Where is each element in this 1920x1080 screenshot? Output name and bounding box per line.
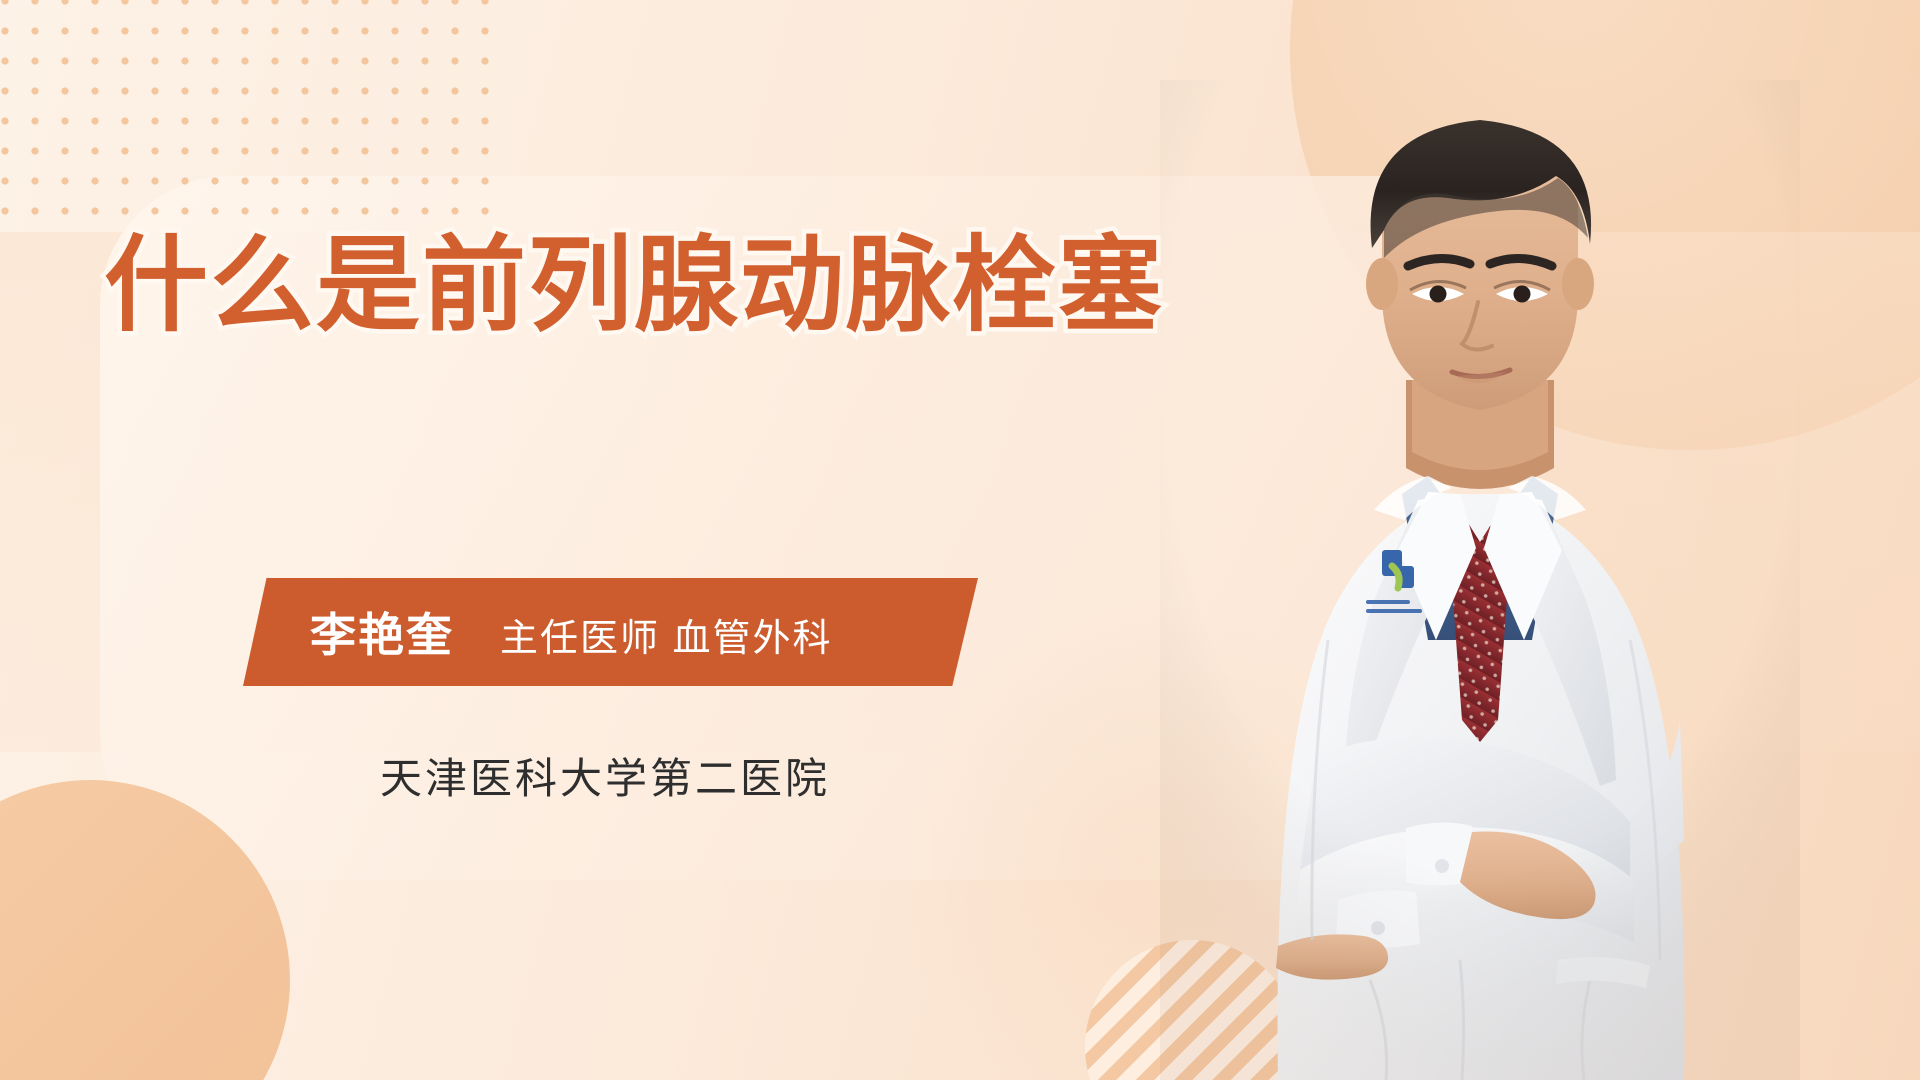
video-cover: 什么是前列腺动脉栓塞 李艳奎 主任医师 血管外科 天津医科大学第二医院 <box>0 0 1920 1080</box>
dot-grid-decoration <box>0 0 510 236</box>
hospital-name: 天津医科大学第二医院 <box>380 745 830 806</box>
doctor-name: 李艳奎 <box>310 599 454 665</box>
doctor-portrait <box>1160 80 1800 1080</box>
doctor-title-department: 主任医师 血管外科 <box>500 607 833 662</box>
doctor-credential-banner: 李艳奎 主任医师 血管外科 <box>243 578 978 686</box>
banner-content: 李艳奎 主任医师 血管外科 <box>243 599 833 665</box>
page-title: 什么是前列腺动脉栓塞 <box>104 228 1224 344</box>
